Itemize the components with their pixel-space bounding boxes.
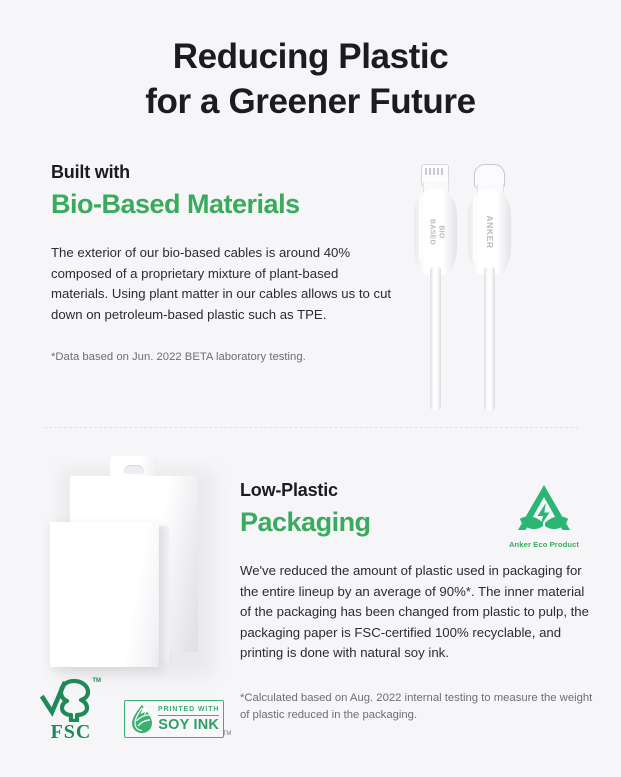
packaging-illustration xyxy=(48,452,228,677)
section-two-text-column: Low-Plastic Packaging We've reduced the … xyxy=(240,478,595,724)
page-title-line-2: for a Greener Future xyxy=(0,79,621,124)
soy-ink-droplet-leaf-icon xyxy=(129,704,155,734)
usbc-connector-housing: ANKER xyxy=(468,189,511,275)
lightning-cable-cord xyxy=(430,267,441,410)
section-one-eyebrow: Built with xyxy=(51,160,396,184)
fsc-label: FSC xyxy=(40,721,102,744)
usbc-cable-cord xyxy=(484,267,495,410)
anker-brand-label: ANKER xyxy=(485,215,495,248)
section-two-footnote: *Calculated based on Aug. 2022 internal … xyxy=(240,690,595,724)
section-divider xyxy=(44,427,578,429)
section-one-text-column: Built with Bio-Based Materials The exter… xyxy=(51,160,396,366)
bio-based-connector-label-line-2: BASED xyxy=(427,219,436,245)
section-two-eyebrow: Low-Plastic xyxy=(240,478,595,502)
certification-logos: TM FSC PRINTED WITH SOY INK TM xyxy=(40,678,224,744)
page-title: Reducing Plastic for a Greener Future xyxy=(0,34,621,124)
cable-illustration: BIO BASED ANKER xyxy=(402,155,612,410)
soy-ink-main-label: SOY INK xyxy=(158,716,219,733)
fsc-trademark: TM xyxy=(92,678,101,684)
fsc-logo: TM FSC xyxy=(40,678,102,744)
soy-ink-logo: PRINTED WITH SOY INK TM xyxy=(124,700,224,738)
section-bio-based-materials: Built with Bio-Based Materials The exter… xyxy=(0,160,621,410)
page-title-line-1: Reducing Plastic xyxy=(0,34,621,79)
section-two-body: We've reduced the amount of plastic used… xyxy=(240,561,595,664)
bio-based-connector-label: BIO BASED xyxy=(427,219,444,245)
bio-based-connector-label-line-1: BIO xyxy=(436,219,445,245)
lightning-plug-pins xyxy=(425,168,445,175)
section-two-headline: Packaging xyxy=(240,505,595,539)
packaging-box-front xyxy=(50,522,159,667)
soy-ink-top-label: PRINTED WITH xyxy=(158,706,219,716)
section-one-footnote: *Data based on Jun. 2022 BETA laboratory… xyxy=(51,349,396,366)
fsc-tree-checkmark-icon xyxy=(40,678,102,722)
soy-ink-wordmark: PRINTED WITH SOY INK xyxy=(158,706,219,733)
lightning-connector-housing: BIO BASED xyxy=(414,189,457,275)
section-one-body: The exterior of our bio-based cables is … xyxy=(51,243,396,325)
soy-ink-trademark: TM xyxy=(223,731,232,737)
section-one-headline: Bio-Based Materials xyxy=(51,187,396,221)
